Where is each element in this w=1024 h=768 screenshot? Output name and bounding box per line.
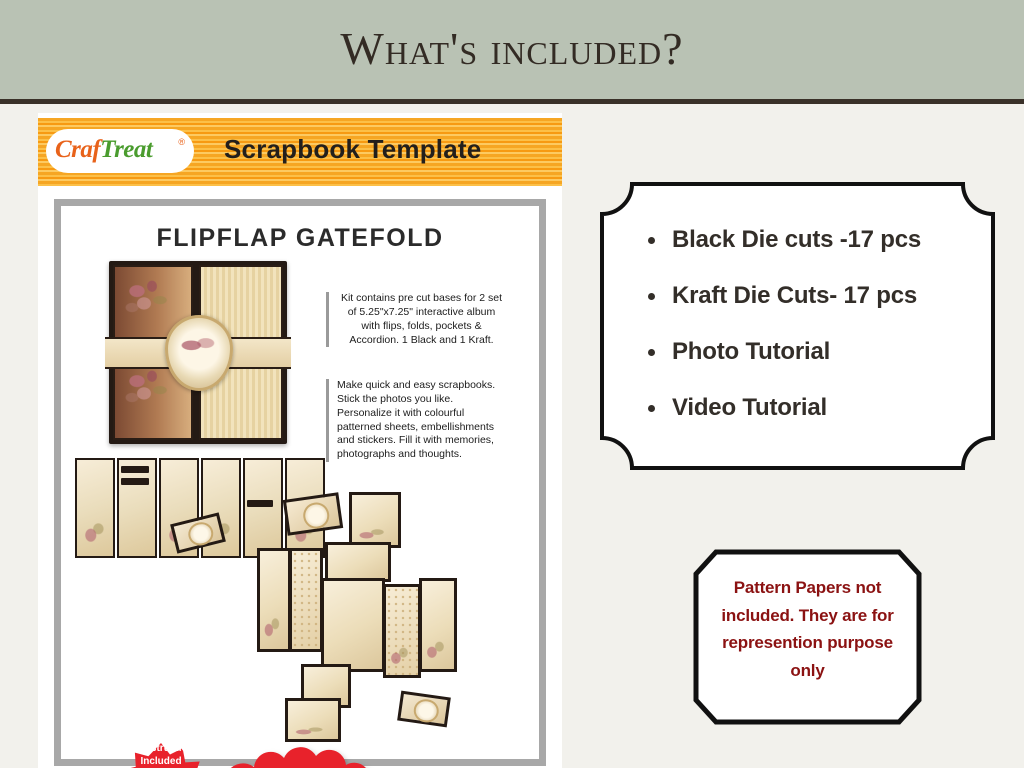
layout-panel xyxy=(419,578,457,672)
product-photo-collage xyxy=(61,206,539,759)
whats-included-box: Black Die cuts -17 pcs Kraft Die Cuts- 1… xyxy=(600,182,995,470)
layout-panel xyxy=(325,542,391,582)
logo-treat-text: Treat xyxy=(100,136,152,163)
layout-panel xyxy=(257,548,291,652)
cloud-shape-icon xyxy=(224,745,376,768)
layout-panel xyxy=(349,492,401,548)
two-projects-cloud-badge xyxy=(224,745,376,768)
layout-rolled-piece xyxy=(397,691,451,728)
included-item: Kraft Die Cuts- 17 pcs xyxy=(646,282,986,310)
page-title: What's included? xyxy=(0,22,1024,75)
included-item: Video Tutorial xyxy=(646,394,986,422)
accordion-flap xyxy=(121,466,149,473)
description-kit-contents: Kit contains pre cut bases for 2 set of … xyxy=(326,292,506,347)
layout-panel xyxy=(321,578,385,672)
banner-title: Scrapbook Template xyxy=(224,134,481,165)
description-usage: Make quick and easy scrapbooks. Stick th… xyxy=(326,379,506,462)
included-items-list: Black Die cuts -17 pcs Kraft Die Cuts- 1… xyxy=(646,226,986,450)
accordion-panel xyxy=(75,458,115,558)
product-photo-frame: FLIPFLAP GATEFOLD xyxy=(54,199,546,766)
logo-craf-text: Craf xyxy=(55,136,100,163)
diy-instructions-badge-label: DIY Instructions Included xyxy=(116,743,206,768)
included-item: Black Die cuts -17 pcs xyxy=(646,226,986,254)
included-item: Photo Tutorial xyxy=(646,338,986,366)
product-photo-closed-album xyxy=(109,261,287,444)
craftreat-logo: CrafTreat ® xyxy=(46,129,194,173)
product-photo-unfolded-layout xyxy=(257,492,527,742)
layout-panel xyxy=(289,548,323,652)
disclaimer-hex-box: Pattern Papers not included. They are fo… xyxy=(692,548,923,726)
disclaimer-text: Pattern Papers not included. They are fo… xyxy=(708,574,907,684)
registered-trademark-icon: ® xyxy=(178,137,185,147)
layout-panel xyxy=(383,584,421,678)
logo-wordmark: CrafTreat xyxy=(55,136,152,164)
product-card: CrafTreat ® Scrapbook Template FLIPFLAP … xyxy=(38,113,562,768)
layout-panel xyxy=(285,698,341,742)
accordion-panel xyxy=(117,458,157,558)
brand-banner: CrafTreat ® Scrapbook Template xyxy=(38,118,562,186)
accordion-flap xyxy=(121,478,149,485)
